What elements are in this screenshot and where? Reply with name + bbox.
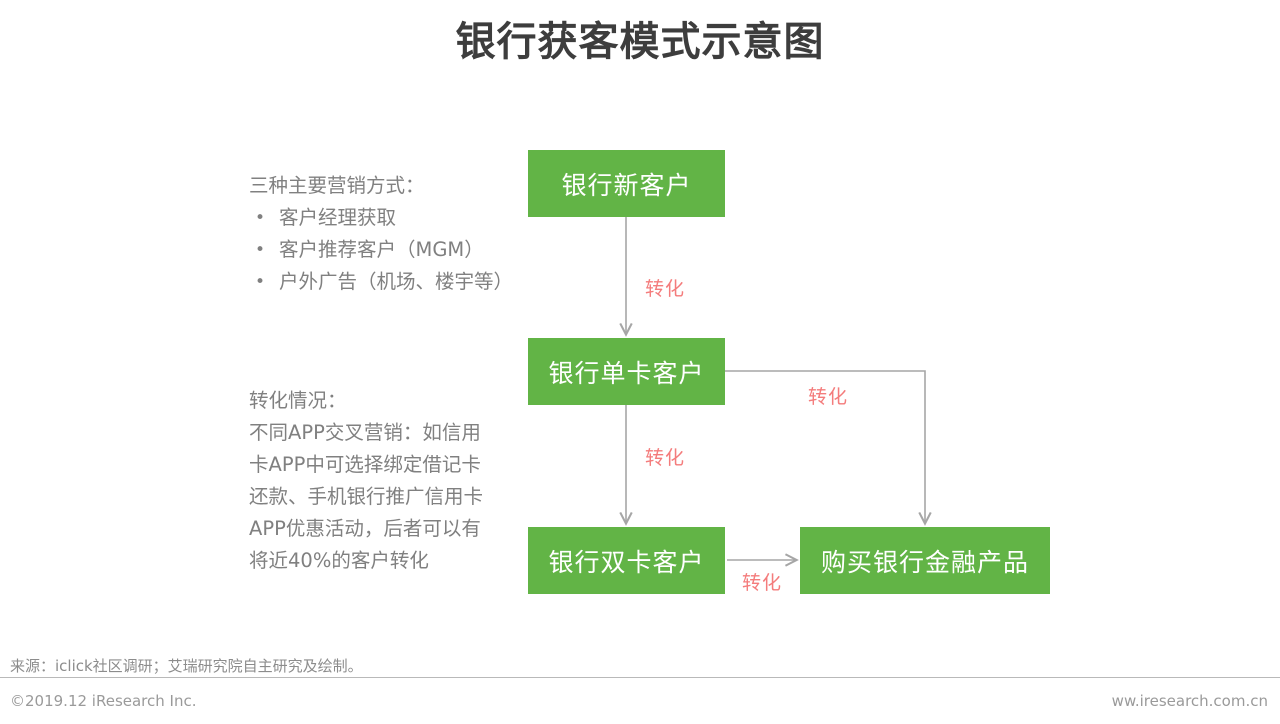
flow-node-dual-card[interactable]: 银行双卡客户: [528, 527, 725, 594]
flow-node-label: 银行单卡客户: [548, 354, 704, 390]
list-item: 客户推荐客户（MGM）: [249, 234, 539, 266]
note-conversion-line: APP优惠活动，后者可以有: [249, 513, 534, 545]
page-title: 银行获客模式示意图: [0, 14, 1280, 70]
note-conversion-situation: 转化情况： 不同APP交叉营销：如信用 卡APP中可选择绑定借记卡 还款、手机银…: [249, 385, 534, 577]
flow-node-new-customer[interactable]: 银行新客户: [528, 150, 725, 217]
flow-node-label: 购买银行金融产品: [821, 543, 1029, 579]
edge-label-conversion-1: 转化: [645, 274, 685, 301]
source-note: 来源：iclick社区调研；艾瑞研究院自主研究及绘制。: [10, 655, 363, 676]
flow-node-label: 银行双卡客户: [548, 543, 704, 579]
note-conversion-line: 还款、手机银行推广信用卡: [249, 481, 534, 513]
note-marketing-methods: 三种主要营销方式： 客户经理获取 客户推荐客户（MGM） 户外广告（机场、楼宇等…: [249, 170, 539, 298]
note-marketing-heading: 三种主要营销方式：: [249, 170, 539, 202]
note-conversion-line: 将近40%的客户转化: [249, 545, 534, 577]
note-conversion-line: 不同APP交叉营销：如信用: [249, 417, 534, 449]
note-conversion-line: 卡APP中可选择绑定借记卡: [249, 449, 534, 481]
footer-divider: [0, 677, 1280, 678]
note-conversion-heading: 转化情况：: [249, 385, 534, 417]
edge-label-conversion-4: 转化: [742, 568, 782, 595]
flow-node-buy-products[interactable]: 购买银行金融产品: [800, 527, 1050, 594]
flow-node-label: 银行新客户: [561, 166, 691, 202]
edge-label-conversion-2: 转化: [645, 443, 685, 470]
marketing-methods-list: 客户经理获取 客户推荐客户（MGM） 户外广告（机场、楼宇等）: [249, 202, 539, 298]
copyright-text: ©2019.12 iResearch Inc.: [10, 692, 196, 710]
list-item: 客户经理获取: [249, 202, 539, 234]
site-url: ww.iresearch.com.cn: [1112, 692, 1268, 710]
flow-node-single-card[interactable]: 银行单卡客户: [528, 338, 725, 405]
edge-label-conversion-3: 转化: [808, 382, 848, 409]
list-item: 户外广告（机场、楼宇等）: [249, 266, 539, 298]
